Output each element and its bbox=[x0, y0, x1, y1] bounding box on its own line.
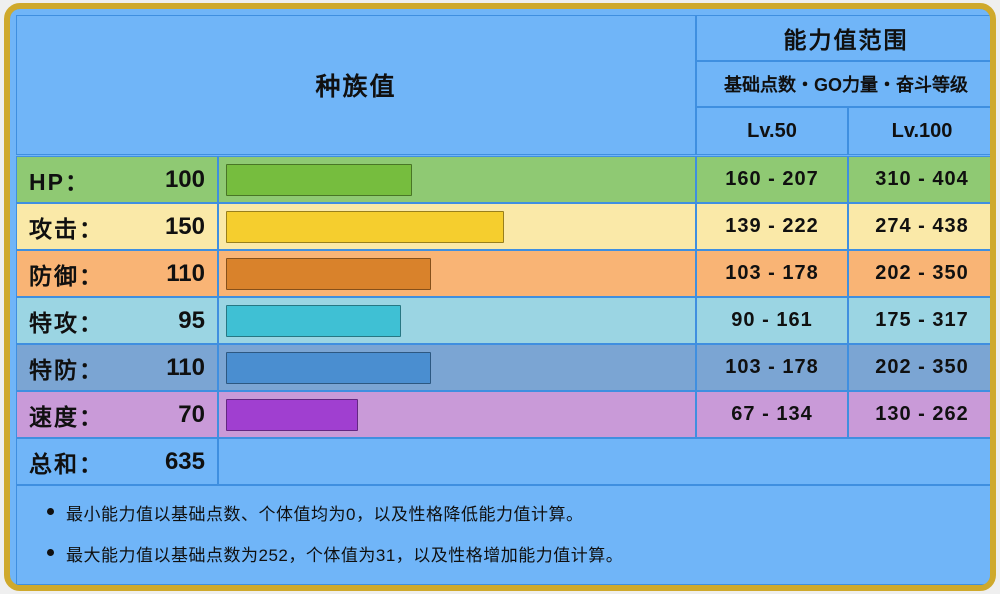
stat-range-lv50: 103 - 178 bbox=[696, 344, 848, 391]
stat-range-lv100: 130 - 262 bbox=[848, 391, 996, 438]
footnote-item: 最大能力值以基础点数为252，个体值为31，以及性格增加能力值计算。 bbox=[47, 541, 995, 566]
total-label-text: 总和： bbox=[29, 445, 104, 479]
stat-value: 110 bbox=[166, 354, 205, 382]
footnote-text: 最小能力值以基础点数、个体值均为0，以及性格降低能力值计算。 bbox=[66, 500, 583, 525]
stat-name: 特攻： bbox=[29, 304, 104, 338]
stat-range-lv100: 274 - 438 bbox=[848, 203, 996, 250]
stat-range-lv100: 202 - 350 bbox=[848, 250, 996, 297]
stat-range-lv100: 175 - 317 bbox=[848, 297, 996, 344]
stat-range-subheader: 基础点数・GO力量・奋斗等级 bbox=[696, 61, 996, 107]
stat-range-lv50: 67 - 134 bbox=[696, 391, 848, 438]
stat-bar-fill bbox=[226, 399, 358, 431]
stat-range-lv100: 310 - 404 bbox=[848, 156, 996, 203]
stat-name: 速度： bbox=[29, 398, 104, 432]
stat-row-label: 速度：70 bbox=[16, 391, 218, 438]
stat-value: 100 bbox=[165, 166, 205, 194]
base-stats-header: 种族值 bbox=[16, 15, 696, 155]
stat-name: 防御： bbox=[29, 257, 104, 291]
stat-row-label: 防御：110 bbox=[16, 250, 218, 297]
stat-range-lv50: 90 - 161 bbox=[696, 297, 848, 344]
column-header-lv50: Lv.50 bbox=[696, 107, 848, 155]
stat-row-label: 特攻：95 bbox=[16, 297, 218, 344]
card-inner: 种族值 能力值范围 基础点数・GO力量・奋斗等级 Lv.50 Lv.100 HP… bbox=[10, 9, 990, 585]
stat-bar-track bbox=[218, 344, 696, 391]
stat-range-lv50: 160 - 207 bbox=[696, 156, 848, 203]
stat-range-lv50: 139 - 222 bbox=[696, 203, 848, 250]
stat-value: 70 bbox=[178, 401, 205, 429]
stat-bar-fill bbox=[226, 258, 431, 290]
stat-value: 95 bbox=[178, 307, 205, 335]
stat-row-label: 特防：110 bbox=[16, 344, 218, 391]
stat-bar-fill bbox=[226, 352, 431, 384]
stat-bar-fill bbox=[226, 305, 401, 337]
column-header-lv100: Lv.100 bbox=[848, 107, 996, 155]
stat-name: 特防： bbox=[29, 351, 104, 385]
stat-name: 攻击： bbox=[29, 210, 104, 244]
stat-value: 110 bbox=[166, 260, 205, 288]
stat-bar-track bbox=[218, 297, 696, 344]
total-value-text: 635 bbox=[165, 448, 205, 476]
stat-bar-fill bbox=[226, 211, 504, 243]
stat-bar-track bbox=[218, 391, 696, 438]
footnotes: 最小能力值以基础点数、个体值均为0，以及性格降低能力值计算。 最大能力值以基础点… bbox=[16, 485, 996, 585]
stat-row-label: HP：100 bbox=[16, 156, 218, 203]
total-row-label: 总和： 635 bbox=[16, 438, 218, 485]
stat-range-lv50: 103 - 178 bbox=[696, 250, 848, 297]
stat-bar-track bbox=[218, 203, 696, 250]
stat-range-lv100: 202 - 350 bbox=[848, 344, 996, 391]
stat-name: HP： bbox=[29, 163, 90, 197]
footnote-item: 最小能力值以基础点数、个体值均为0，以及性格降低能力值计算。 bbox=[47, 500, 995, 525]
stat-bar-track bbox=[218, 156, 696, 203]
pokemon-stats-card: 种族值 能力值范围 基础点数・GO力量・奋斗等级 Lv.50 Lv.100 HP… bbox=[4, 3, 996, 591]
bullet-icon bbox=[47, 549, 54, 556]
stat-range-header: 能力值范围 bbox=[696, 15, 996, 61]
stat-bar-fill bbox=[226, 164, 412, 196]
stat-value: 150 bbox=[165, 213, 205, 241]
bullet-icon bbox=[47, 508, 54, 515]
total-row-empty-area bbox=[218, 438, 996, 485]
stat-bar-track bbox=[218, 250, 696, 297]
stat-row-label: 攻击：150 bbox=[16, 203, 218, 250]
footnote-text: 最大能力值以基础点数为252，个体值为31，以及性格增加能力值计算。 bbox=[66, 541, 623, 566]
